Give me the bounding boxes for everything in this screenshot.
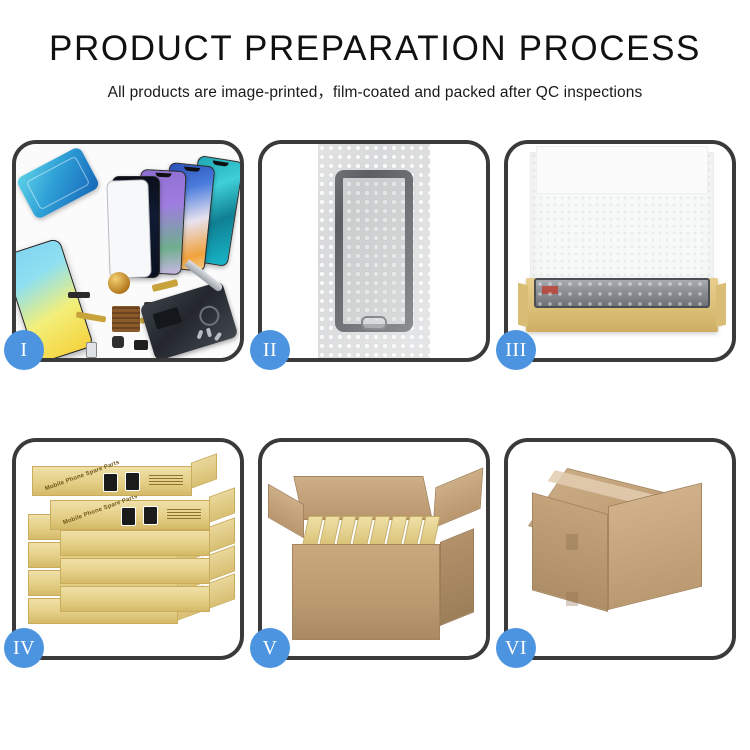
- panel-2-image: [262, 144, 486, 358]
- mini-phone-icon: [143, 506, 158, 525]
- process-panel-5: V: [258, 438, 490, 660]
- screws-icon: [198, 328, 224, 344]
- copper-coil-icon: [108, 272, 130, 294]
- notch-icon: [155, 173, 171, 178]
- product-label-icon: [542, 286, 558, 294]
- process-panel-grid: I II III: [12, 140, 738, 660]
- carton-seam-icon: [566, 592, 578, 606]
- header: PRODUCT PREPARATION PROCESS All products…: [0, 0, 750, 102]
- process-panel-4: Mobile Phone Spare Parts Mobile Phone Sp…: [12, 438, 244, 660]
- process-panel-2: II: [258, 140, 490, 362]
- page-title: PRODUCT PREPARATION PROCESS: [0, 30, 750, 69]
- carton-front-icon: [292, 544, 440, 640]
- panel-badge-5: V: [250, 628, 290, 668]
- process-panel-3: III: [504, 140, 736, 362]
- box-spec-lines: [149, 475, 183, 491]
- carton-seam-icon: [566, 534, 578, 550]
- notch-icon: [212, 160, 228, 166]
- glass-panel-icon: [106, 179, 151, 278]
- chip-icon: [68, 292, 90, 298]
- carton-flap-right-icon: [433, 467, 484, 528]
- panel-4-image: Mobile Phone Spare Parts Mobile Phone Sp…: [16, 442, 240, 656]
- chip-icon: [134, 340, 148, 350]
- flex-cable-icon: [152, 279, 179, 292]
- process-panel-1: I: [12, 140, 244, 362]
- panel-badge-3: III: [496, 330, 536, 370]
- mini-phone-icon: [121, 507, 136, 526]
- phone-screen-icon: [335, 170, 413, 333]
- box-spec-lines: [167, 509, 201, 525]
- panel-badge-6: VI: [496, 628, 536, 668]
- panel-6-image: [508, 442, 732, 656]
- mini-phone-icon: [125, 472, 140, 491]
- retail-box: [60, 530, 210, 556]
- mini-phone-icon: [103, 473, 118, 492]
- retail-box: [60, 586, 210, 612]
- panel-5-image: [262, 442, 486, 656]
- logic-board-icon: [139, 281, 238, 358]
- wrapped-product-icon: [534, 278, 710, 308]
- panel-1-image: [16, 144, 240, 358]
- retail-box-printed: Mobile Phone Spare Parts: [50, 500, 210, 530]
- carton-side-icon: [440, 528, 474, 626]
- panel-3-image: [508, 144, 732, 358]
- retail-box-printed: Mobile Phone Spare Parts: [32, 466, 192, 496]
- carton-flap-back-icon: [293, 476, 432, 520]
- carton-right-face-icon: [608, 483, 702, 610]
- phone-lineup-icon: [86, 156, 240, 276]
- box-stack-icon: Mobile Phone Spare Parts Mobile Phone Sp…: [20, 448, 234, 654]
- chip-icon: [112, 336, 124, 348]
- retail-box: [60, 558, 210, 584]
- foam-lid-icon: [536, 146, 708, 194]
- panel-badge-2: II: [250, 330, 290, 370]
- battery-icon: [86, 342, 97, 358]
- page-subtitle: All products are image-printed，film-coat…: [0, 80, 750, 102]
- connector-grid-icon: [112, 306, 140, 332]
- panel-badge-4: IV: [4, 628, 44, 668]
- process-panel-6: VI: [504, 438, 736, 660]
- panel-badge-1: I: [4, 330, 44, 370]
- infographic-page: PRODUCT PREPARATION PROCESS All products…: [0, 0, 750, 750]
- notch-icon: [184, 166, 200, 172]
